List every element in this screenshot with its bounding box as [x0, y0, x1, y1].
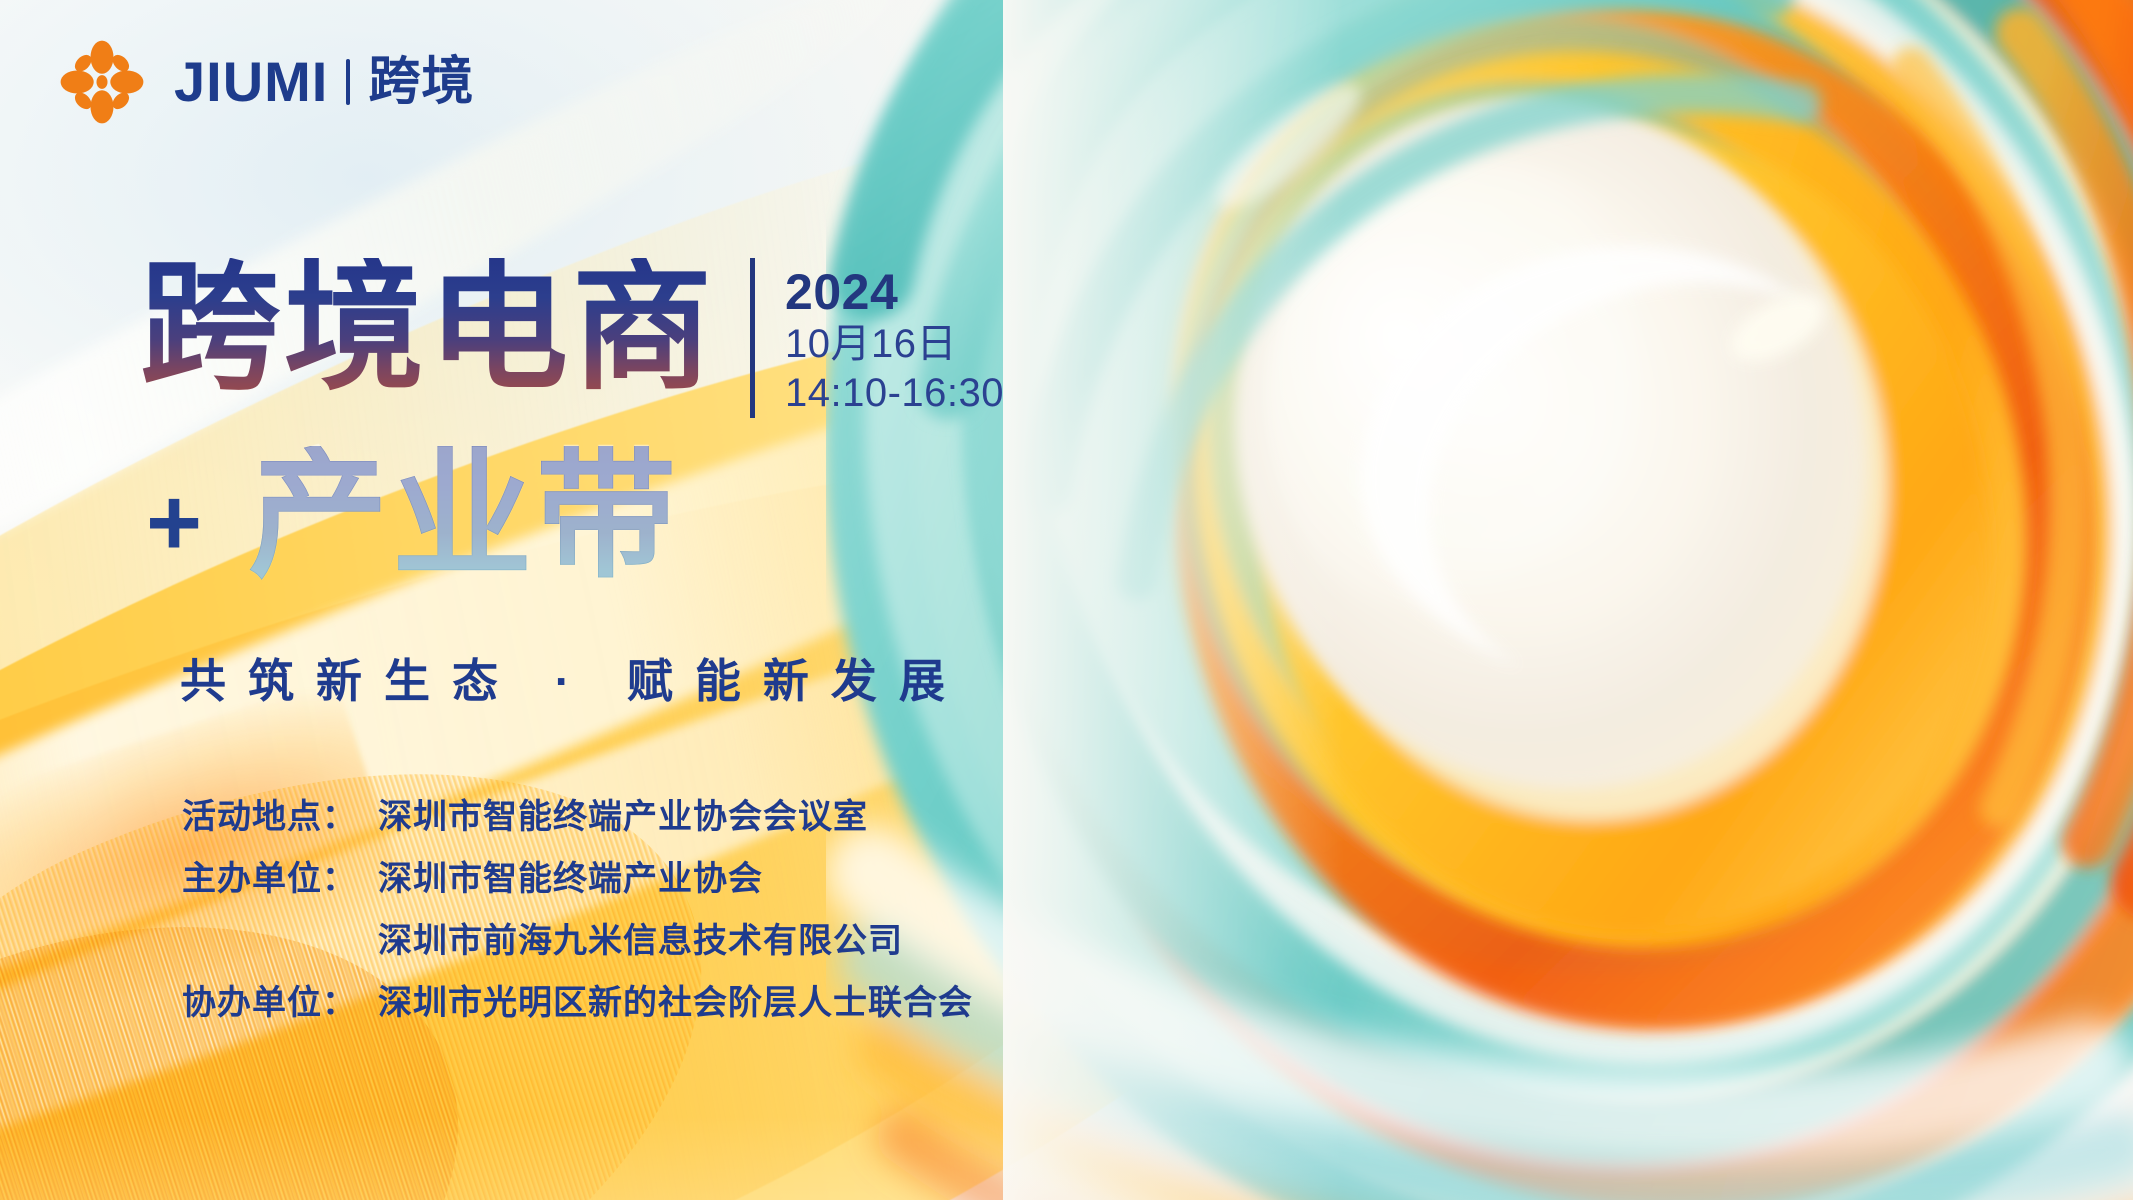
info-line: 活动地点： 深圳市智能终端产业协会会议室 [182, 800, 973, 834]
info-label: 协办单位： [182, 986, 378, 1020]
info-line: 主办单位： 深圳市智能终端产业协会 [182, 862, 973, 896]
event-year: 2024 [785, 264, 1004, 320]
info-line: 深圳市前海九米信息技术有限公司 [182, 924, 973, 958]
flower-petal-logo-icon [56, 36, 148, 128]
brand-latin-name: JIUMI [174, 54, 328, 110]
info-label: 活动地点： [182, 800, 378, 834]
info-line: 协办单位： 深圳市光明区新的社会阶层人士联合会 [182, 986, 973, 1020]
poster-content: JIUMI 跨境 跨境电商 2024 10月16日 14:10-16:30 + … [0, 0, 2133, 1200]
event-time: 14:10-16:30 [785, 369, 1004, 418]
headline-second-row: + 产业带 [146, 446, 1004, 586]
info-value: 深圳市智能终端产业协会 [378, 862, 763, 896]
headline-first-row: 跨境电商 2024 10月16日 14:10-16:30 [140, 258, 1004, 418]
brand-divider [346, 59, 350, 105]
title-line-1: 跨境电商 [140, 258, 716, 398]
info-label: 主办单位： [182, 862, 378, 896]
brand-wordmark: JIUMI 跨境 [174, 54, 474, 110]
event-date-block: 2024 10月16日 14:10-16:30 [750, 258, 1004, 418]
plus-sign-icon: + [146, 475, 202, 571]
brand-logo[interactable]: JIUMI 跨境 [56, 36, 474, 128]
info-value: 深圳市光明区新的社会阶层人士联合会 [378, 986, 973, 1020]
info-value: 深圳市前海九米信息技术有限公司 [378, 924, 903, 958]
title-line-2: 产业带 [248, 446, 680, 586]
info-value: 深圳市智能终端产业协会会议室 [378, 800, 868, 834]
headline-block: 跨境电商 2024 10月16日 14:10-16:30 + 产业带 [140, 258, 1004, 586]
brand-chinese-name: 跨境 [368, 56, 474, 108]
event-poster-banner: JIUMI 跨境 跨境电商 2024 10月16日 14:10-16:30 + … [0, 0, 2133, 1200]
poster-subtitle: 共筑新生态 · 赋能新发展 [180, 645, 967, 711]
event-info-block: 活动地点： 深圳市智能终端产业协会会议室 主办单位： 深圳市智能终端产业协会 深… [182, 800, 973, 1020]
event-day: 10月16日 [785, 320, 1004, 369]
